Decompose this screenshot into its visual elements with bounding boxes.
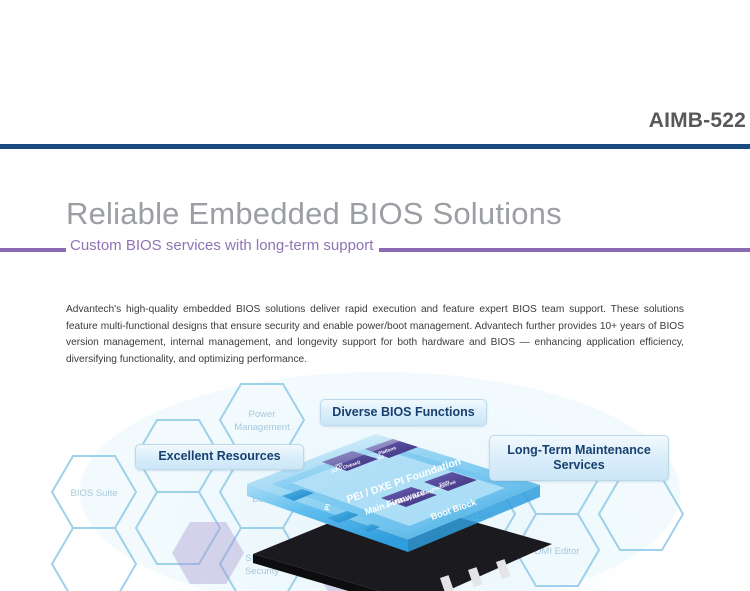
callout-longterm-line1: Long-Term Maintenance (507, 443, 651, 457)
hexagon-label-bios-suite: BIOS Suite (71, 488, 118, 499)
hexagon-label-power-management-line1: Power (249, 409, 276, 420)
hexagon-label-power-management-line2: Management (234, 422, 290, 433)
page-subtitle: Custom BIOS services with long-term supp… (66, 237, 379, 255)
callout-longterm-line2: Services (553, 458, 604, 472)
callout-longterm-text: Long-Term Maintenance Services (507, 443, 651, 474)
callout-diverse-bios-functions: Diverse BIOS Functions (320, 399, 487, 426)
header-divider (0, 144, 750, 149)
product-title: AIMB-522 (649, 110, 746, 131)
intro-paragraph: Advantech's high-quality embedded BIOS s… (66, 302, 684, 368)
page-title: Reliable Embedded BIOS Solutions (66, 196, 562, 232)
callout-long-term-maintenance-services: Long-Term Maintenance Services (489, 435, 669, 481)
callout-excellent-resources: Excellent Resources (135, 444, 304, 470)
page-header: AIMB-522 (0, 0, 750, 152)
